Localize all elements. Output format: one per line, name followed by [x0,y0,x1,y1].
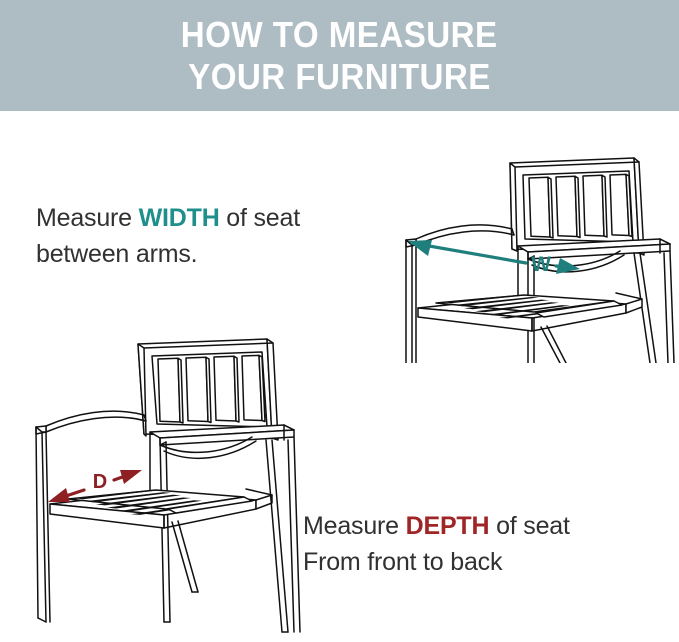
caption-measure-width: Measure WIDTH of seat between arms. [36,200,300,272]
width-arrow-label: W [531,253,551,276]
patio-chair-width-illustration: W [398,141,679,363]
caption-width-keyword: WIDTH [139,204,220,232]
chair-diagram-depth: D [22,322,307,642]
how-to-measure-infographic: HOW TO MEASURE YOUR FURNITURE Measure WI… [0,0,679,642]
caption-width-prefix: Measure [36,204,139,232]
header-banner: HOW TO MEASURE YOUR FURNITURE [0,0,679,111]
caption-measure-depth: Measure DEPTH of seat From front to back [303,508,570,580]
patio-chair-depth-illustration: D [22,322,307,642]
caption-width-line-1: Measure WIDTH of seat [36,200,300,236]
caption-width-line-2: between arms. [36,236,300,272]
header-title-line-1: HOW TO MEASURE [181,14,498,56]
caption-depth-prefix: Measure [303,512,406,540]
header-title-line-2: YOUR FURNITURE [188,56,491,98]
caption-depth-line-1: Measure DEPTH of seat [303,508,570,544]
chair-diagram-width: W [398,141,679,363]
caption-depth-suffix: of seat [489,512,569,540]
caption-depth-keyword: DEPTH [406,512,490,540]
caption-depth-line-2: From front to back [303,544,570,580]
caption-width-suffix: of seat [220,204,300,232]
depth-arrow-label: D [93,471,107,493]
